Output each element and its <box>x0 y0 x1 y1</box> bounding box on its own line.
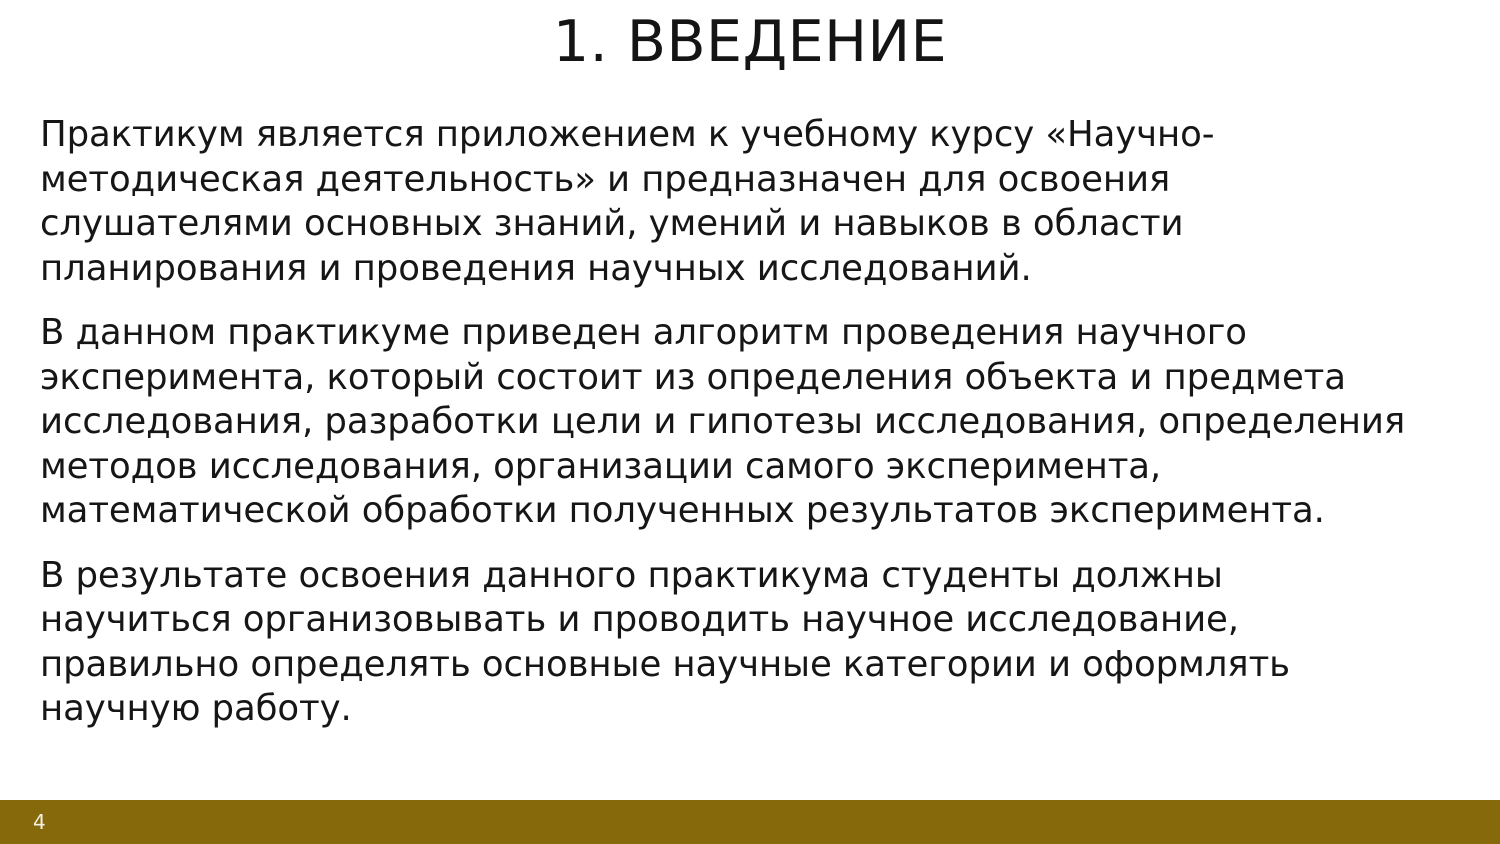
footer-bar <box>0 800 1500 844</box>
page-title: 1. ВВЕДЕНИЕ <box>0 8 1500 76</box>
slide-body: Практикум является приложением к учебном… <box>40 113 1464 732</box>
slide-canvas: 1. ВВЕДЕНИЕ Практикум является приложени… <box>0 0 1500 844</box>
body-paragraph-2: В данном практикуме приведен алгоритм пр… <box>40 311 1464 534</box>
page-number: 4 <box>33 810 46 834</box>
body-paragraph-1: Практикум является приложением к учебном… <box>40 113 1270 291</box>
body-paragraph-3: В результате освоения данного практикума… <box>40 554 1370 732</box>
